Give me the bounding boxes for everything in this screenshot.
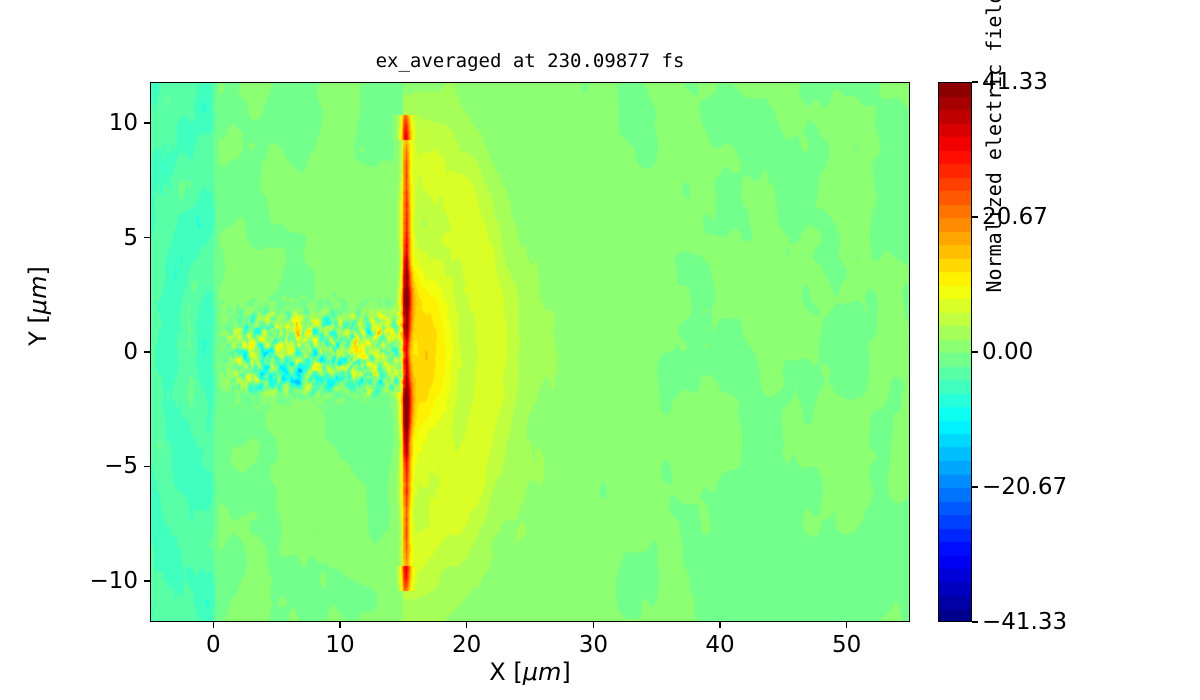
field-heatmap: [151, 83, 910, 622]
y-tick-label: 10: [30, 110, 138, 136]
x-axis-label-suffix: ]: [561, 658, 570, 686]
y-tick-label: −10: [30, 568, 138, 594]
y-tick-mark: [144, 466, 150, 467]
colorbar-tick-label: −20.67: [982, 474, 1067, 500]
colorbar-tick-mark: [972, 81, 978, 82]
y-tick-mark: [144, 580, 150, 581]
x-tick-label: 50: [832, 632, 861, 658]
colorbar-tick-mark: [972, 351, 978, 352]
plot-title: ex_averaged at 230.09877 fs: [150, 50, 910, 72]
colorbar-tick-mark: [972, 486, 978, 487]
colorbar-tick-label: −41.33: [982, 609, 1067, 635]
x-tick-mark: [339, 622, 340, 628]
colorbar-tick-mark: [972, 216, 978, 217]
colorbar-tick-mark: [972, 621, 978, 622]
x-axis-label: X [μm]: [150, 658, 910, 686]
field-map-axes: [150, 82, 910, 622]
y-axis-label: Y [μm]: [24, 206, 52, 406]
colorbar-axes: [938, 82, 972, 622]
x-tick-mark: [593, 622, 594, 628]
y-axis-label-suffix: ]: [24, 266, 52, 275]
x-tick-mark: [466, 622, 467, 628]
y-axis-label-prefix: Y [: [24, 314, 52, 346]
y-axis-label-unit: μm: [24, 276, 52, 315]
x-tick-label: 10: [325, 632, 354, 658]
x-tick-mark: [846, 622, 847, 628]
x-tick-mark: [213, 622, 214, 628]
y-tick-mark: [144, 122, 150, 123]
x-tick-label: 30: [579, 632, 608, 658]
x-tick-label: 0: [206, 632, 221, 658]
x-tick-label: 40: [705, 632, 734, 658]
y-tick-mark: [144, 237, 150, 238]
colorbar-gradient: [939, 83, 972, 622]
x-axis-label-unit: μm: [523, 658, 562, 686]
figure-canvas: ex_averaged at 230.09877 fs 01020304050 …: [0, 0, 1200, 700]
x-tick-label: 20: [452, 632, 481, 658]
y-tick-label: −5: [30, 453, 138, 479]
y-tick-mark: [144, 351, 150, 352]
x-axis-label-prefix: X [: [489, 658, 522, 686]
x-tick-mark: [719, 622, 720, 628]
colorbar-label: Normalized electric field: [982, 0, 1006, 352]
